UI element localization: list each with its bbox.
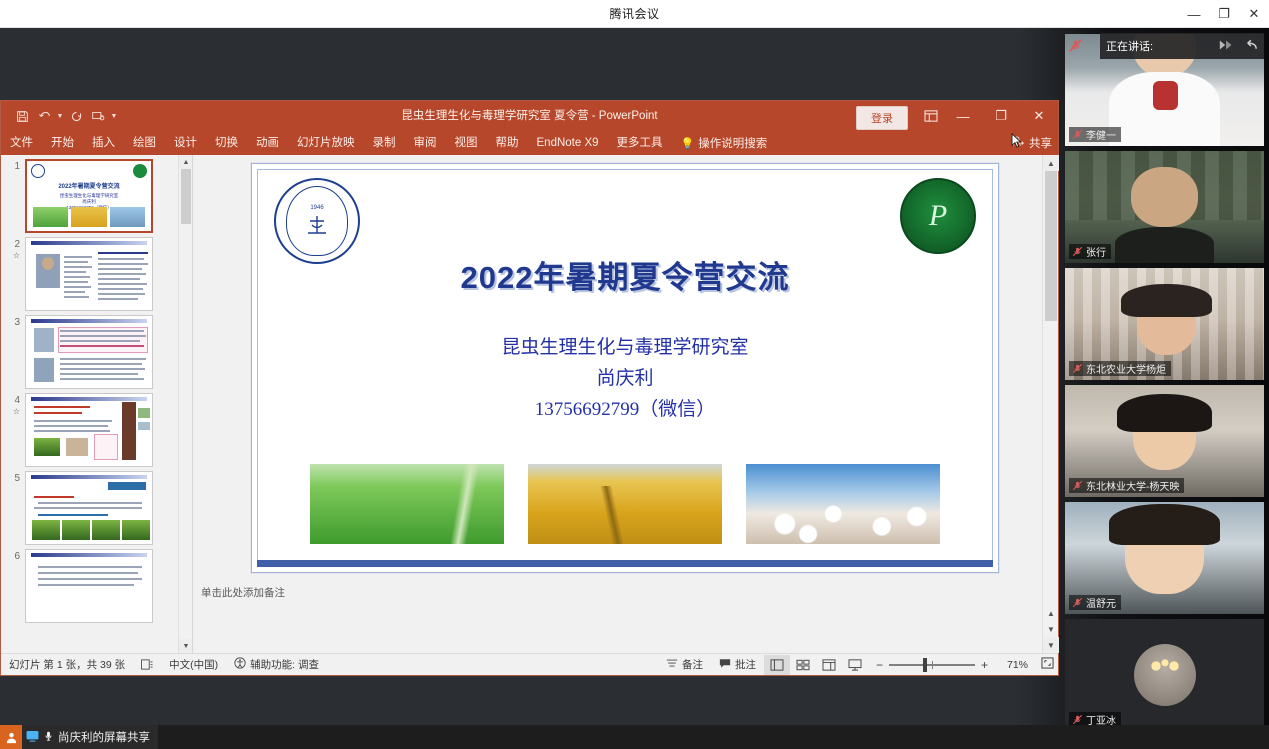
- slide-canvas-area: 1946 P 2022年暑期夏令营交流 昆虫生理生化与毒理学研究室 尚庆利 13…: [193, 155, 1042, 653]
- participant-name-3: 东北农业大学杨炬: [1086, 361, 1166, 376]
- meeting-title: 腾讯会议: [609, 5, 659, 22]
- tab-endnote[interactable]: EndNote X9: [528, 131, 608, 155]
- notes-button[interactable]: 备注: [658, 657, 711, 672]
- current-slide[interactable]: 1946 P 2022年暑期夏令营交流 昆虫生理生化与毒理学研究室 尚庆利 13…: [251, 163, 999, 573]
- thumbnail-scroll-down-icon[interactable]: ▼: [179, 639, 193, 653]
- mic-muted-icon: [1072, 246, 1083, 257]
- slide-sorter-view-button[interactable]: [790, 655, 816, 675]
- thumbnail-item-1[interactable]: 1 2022年暑期夏令营交流 昆虫生理生化与毒理学研究室 尚庆利 1375669…: [1, 155, 192, 233]
- thumbnail-preview-1[interactable]: 2022年暑期夏令营交流 昆虫生理生化与毒理学研究室 尚庆利 137566927…: [25, 159, 153, 233]
- powerpoint-close-button[interactable]: ✕: [1020, 101, 1058, 131]
- return-arrow-icon[interactable]: [1243, 39, 1258, 54]
- participant-name-badge-2: 张行: [1069, 244, 1111, 259]
- language-status[interactable]: 中文(中国): [161, 657, 226, 672]
- jilin-university-emblem: 1946: [286, 186, 348, 256]
- save-icon[interactable]: [11, 105, 33, 127]
- thumbnail-number: 1: [7, 159, 25, 172]
- undo-icon[interactable]: [33, 105, 55, 127]
- ribbon-display-options-icon[interactable]: [919, 107, 943, 125]
- participant-name-1: 李健一: [1086, 127, 1116, 142]
- thumbnail-number: 5: [7, 471, 25, 484]
- slide-vertical-scrollbar[interactable]: ▲ ▲ ▼ ▼: [1042, 155, 1058, 653]
- notes-icon: [666, 658, 678, 672]
- thumbnail-preview-6[interactable]: [25, 549, 153, 623]
- collapse-chevrons-icon[interactable]: [1218, 39, 1236, 54]
- mic-muted-icon: [1072, 363, 1083, 374]
- participant-name-4: 东北林业大学-杨天映: [1086, 478, 1179, 493]
- comments-label: 批注: [735, 657, 756, 672]
- thumb-plant-logo-icon: [133, 164, 147, 178]
- slide-presenter-name: 尚庆利: [252, 363, 998, 394]
- thumbnail-item-2[interactable]: 2 ☆: [1, 233, 192, 311]
- tab-design[interactable]: 设计: [165, 131, 206, 155]
- meeting-titlebar: 腾讯会议 — ❐ ✕: [0, 0, 1269, 28]
- thumbnail-item-6[interactable]: 6: [1, 545, 192, 623]
- participant-name-badge-4: 东北林业大学-杨天映: [1069, 478, 1184, 493]
- powerpoint-minimize-button[interactable]: —: [944, 101, 982, 131]
- share-user-icon: [0, 725, 22, 749]
- powerpoint-status-bar: 幻灯片 第 1 张，共 39 张 中文(中国) 辅助功能: 调查 备注: [1, 653, 1058, 675]
- participant-name-2: 张行: [1086, 244, 1106, 259]
- thumbnail-number: 4 ☆: [7, 393, 25, 417]
- tab-draw[interactable]: 绘图: [124, 131, 165, 155]
- thumbnail-scroll-up-icon[interactable]: ▲: [179, 155, 193, 169]
- mic-muted-icon: [1072, 129, 1083, 140]
- speaking-label: 正在讲话:: [1106, 38, 1153, 54]
- zoom-slider-handle[interactable]: [923, 658, 927, 672]
- accessibility-status[interactable]: 辅助功能: 调查: [226, 657, 327, 672]
- speaking-mic-muted-icon: [1068, 38, 1083, 53]
- undo-dropdown-caret-icon[interactable]: ▼: [55, 113, 65, 120]
- participant-avatar: [1134, 644, 1196, 706]
- comment-bubble-icon: [719, 658, 731, 672]
- thumbnail-preview-4[interactable]: [25, 393, 153, 467]
- thumbnail-number: 3: [7, 315, 25, 328]
- plant-science-college-logo-icon: P: [900, 178, 976, 254]
- participant-name-badge-1: 李健一: [1069, 127, 1121, 142]
- slide-body-text: 昆虫生理生化与毒理学研究室 尚庆利 13756692799（微信）: [252, 332, 998, 425]
- participant-name-badge-3: 东北农业大学杨炬: [1069, 361, 1171, 376]
- powerpoint-window: ▼ ▼ 昆虫生理生化与毒理学研究室 夏令营 - PowerPoint 登录 — …: [0, 100, 1059, 676]
- thumbnail-preview-5[interactable]: [25, 471, 153, 545]
- tell-me-search[interactable]: 💡 操作说明搜索: [672, 135, 768, 151]
- zoom-in-button[interactable]: +: [981, 658, 988, 672]
- mic-muted-icon: [1072, 480, 1083, 491]
- reading-view-button[interactable]: [816, 655, 842, 675]
- tab-insert[interactable]: 插入: [83, 131, 124, 155]
- scroll-thumb[interactable]: [1045, 171, 1057, 321]
- slide-bottom-accent-bar: [257, 560, 993, 567]
- slide-thumbnail-pane[interactable]: 1 2022年暑期夏令营交流 昆虫生理生化与毒理学研究室 尚庆利 1375669…: [1, 155, 193, 653]
- participant-tile-4[interactable]: 东北林业大学-杨天映: [1065, 385, 1264, 497]
- thumbnail-item-3[interactable]: 3: [1, 311, 192, 389]
- animation-star-icon: ☆: [7, 250, 20, 261]
- participant-name-5: 温舒元: [1086, 595, 1116, 610]
- tab-review[interactable]: 审阅: [405, 131, 446, 155]
- screen-share-indicator[interactable]: 尚庆利的屏幕共享: [0, 725, 158, 749]
- tab-help[interactable]: 帮助: [487, 131, 528, 155]
- animation-star-icon: ☆: [7, 406, 20, 417]
- accessibility-icon: [234, 657, 246, 672]
- tab-home[interactable]: 开始: [42, 131, 83, 155]
- jlu-logo-year: 1946: [310, 204, 323, 212]
- slide-contact-number: 13756692799（微信）: [252, 394, 998, 425]
- customize-qat-caret-icon[interactable]: ▼: [109, 113, 119, 120]
- speaking-bar-actions: [1218, 39, 1258, 54]
- thumbnail-number: 6: [7, 549, 25, 562]
- meeting-maximize-button[interactable]: ❐: [1209, 0, 1239, 28]
- slide-photo-row: [310, 464, 940, 544]
- redo-icon[interactable]: [65, 105, 87, 127]
- lightbulb-icon: 💡: [681, 137, 695, 150]
- notes-placeholder[interactable]: 单击此处添加备注: [201, 585, 285, 600]
- fit-slide-to-window-button[interactable]: [1036, 657, 1058, 672]
- thumb-title-text: 2022年暑期夏令营交流: [27, 181, 151, 190]
- tell-me-label: 操作说明搜索: [698, 135, 767, 151]
- meeting-window-controls: — ❐ ✕: [1179, 0, 1269, 28]
- zoom-level-label[interactable]: 71%: [994, 659, 1028, 671]
- meeting-close-button[interactable]: ✕: [1239, 0, 1269, 28]
- taskbar: 尚庆利的屏幕共享: [0, 725, 1269, 749]
- tab-file[interactable]: 文件: [1, 131, 42, 155]
- participant-video-rail: 李健一 张行 东北农业大学杨炬 东北林业大学-杨天映: [1060, 28, 1269, 749]
- powerpoint-titlebar: ▼ ▼ 昆虫生理生化与毒理学研究室 夏令营 - PowerPoint 登录 — …: [1, 101, 1058, 131]
- photo-green-rice-field: [310, 464, 504, 544]
- screen-share-label: 尚庆利的屏幕共享: [58, 729, 150, 745]
- normal-view-button[interactable]: [764, 655, 790, 675]
- slideshow-icon[interactable]: [87, 105, 109, 127]
- participant-tile-2[interactable]: 张行: [1065, 151, 1264, 263]
- screen-root: 腾讯会议 — ❐ ✕ ▼: [0, 0, 1269, 749]
- photo-cotton-field: [746, 464, 940, 544]
- thumbnail-number: 2 ☆: [7, 237, 25, 261]
- mic-icon: [43, 730, 54, 745]
- photo-golden-harvest-field: [528, 464, 722, 544]
- zoom-out-button[interactable]: −: [876, 658, 883, 672]
- mic-muted-icon: [1072, 597, 1083, 608]
- participant-tile-5[interactable]: 温舒元: [1065, 502, 1264, 614]
- tab-more-tools[interactable]: 更多工具: [608, 131, 672, 155]
- meeting-minimize-button[interactable]: —: [1179, 0, 1209, 28]
- powerpoint-workspace: 1 2022年暑期夏令营交流 昆虫生理生化与毒理学研究室 尚庆利 1375669…: [1, 155, 1058, 653]
- scroll-down-icon[interactable]: ▼: [1043, 637, 1059, 653]
- share-label: 共享: [1029, 135, 1052, 151]
- thumbnail-item-5[interactable]: 5: [1, 467, 192, 545]
- plant-logo-mark: P: [929, 199, 947, 233]
- thumbnail-item-4[interactable]: 4 ☆: [1, 389, 192, 467]
- thumbnail-scroll-thumb[interactable]: [181, 169, 191, 224]
- participant-tile-6[interactable]: 丁亚冰: [1065, 619, 1264, 731]
- slide-counter[interactable]: 幻灯片 第 1 张，共 39 张: [1, 657, 133, 672]
- thumbnail-preview-2[interactable]: [25, 237, 153, 311]
- status-bar-right: 备注 批注: [658, 655, 1058, 675]
- thumb-photo-strip: [33, 207, 145, 227]
- quick-access-toolbar: ▼ ▼: [1, 105, 119, 127]
- screen-share-monitor-icon: [26, 730, 39, 745]
- participant-tile-3[interactable]: 东北农业大学杨炬: [1065, 268, 1264, 380]
- mic-muted-icon: [1072, 714, 1083, 725]
- speaking-indicator-bar: 正在讲话:: [1100, 33, 1264, 59]
- zoom-slider-midpoint: [932, 661, 933, 669]
- previous-slide-icon[interactable]: ▲: [1043, 605, 1059, 621]
- tab-record[interactable]: 录制: [364, 131, 405, 155]
- slide-lab-name: 昆虫生理生化与毒理学研究室: [252, 332, 998, 363]
- powerpoint-restore-button[interactable]: ❐: [982, 101, 1020, 131]
- zoom-control[interactable]: − + 71%: [868, 658, 1036, 672]
- comments-button[interactable]: 批注: [711, 657, 764, 672]
- zoom-slider-track[interactable]: [889, 664, 975, 666]
- scroll-up-icon[interactable]: ▲: [1043, 155, 1059, 171]
- notes-label: 备注: [682, 657, 703, 672]
- tab-animations[interactable]: 动画: [247, 131, 288, 155]
- accessibility-label: 辅助功能: 调查: [250, 657, 319, 672]
- slide-layout-icon: [133, 659, 161, 670]
- signin-button[interactable]: 登录: [856, 106, 908, 130]
- powerpoint-window-controls: — ❐ ✕: [944, 101, 1058, 131]
- thumbnail-preview-3[interactable]: [25, 315, 153, 389]
- thumb-jlu-logo-icon: [31, 164, 45, 178]
- participant-name-badge-5: 温舒元: [1069, 595, 1121, 610]
- next-slide-icon[interactable]: ▼: [1043, 621, 1059, 637]
- tab-slideshow[interactable]: 幻灯片放映: [288, 131, 364, 155]
- tab-transitions[interactable]: 切换: [206, 131, 247, 155]
- slideshow-view-button[interactable]: [842, 655, 868, 675]
- mouse-cursor-icon: [1011, 133, 1022, 149]
- slide-title-text: 2022年暑期夏令营交流: [252, 252, 998, 297]
- ribbon-tab-bar: 文件 开始 插入 绘图 设计 切换 动画 幻灯片放映 录制 审阅 视图 帮助 E…: [1, 131, 1058, 155]
- tab-view[interactable]: 视图: [446, 131, 487, 155]
- thumbnail-scrollbar[interactable]: ▲ ▼: [178, 155, 192, 653]
